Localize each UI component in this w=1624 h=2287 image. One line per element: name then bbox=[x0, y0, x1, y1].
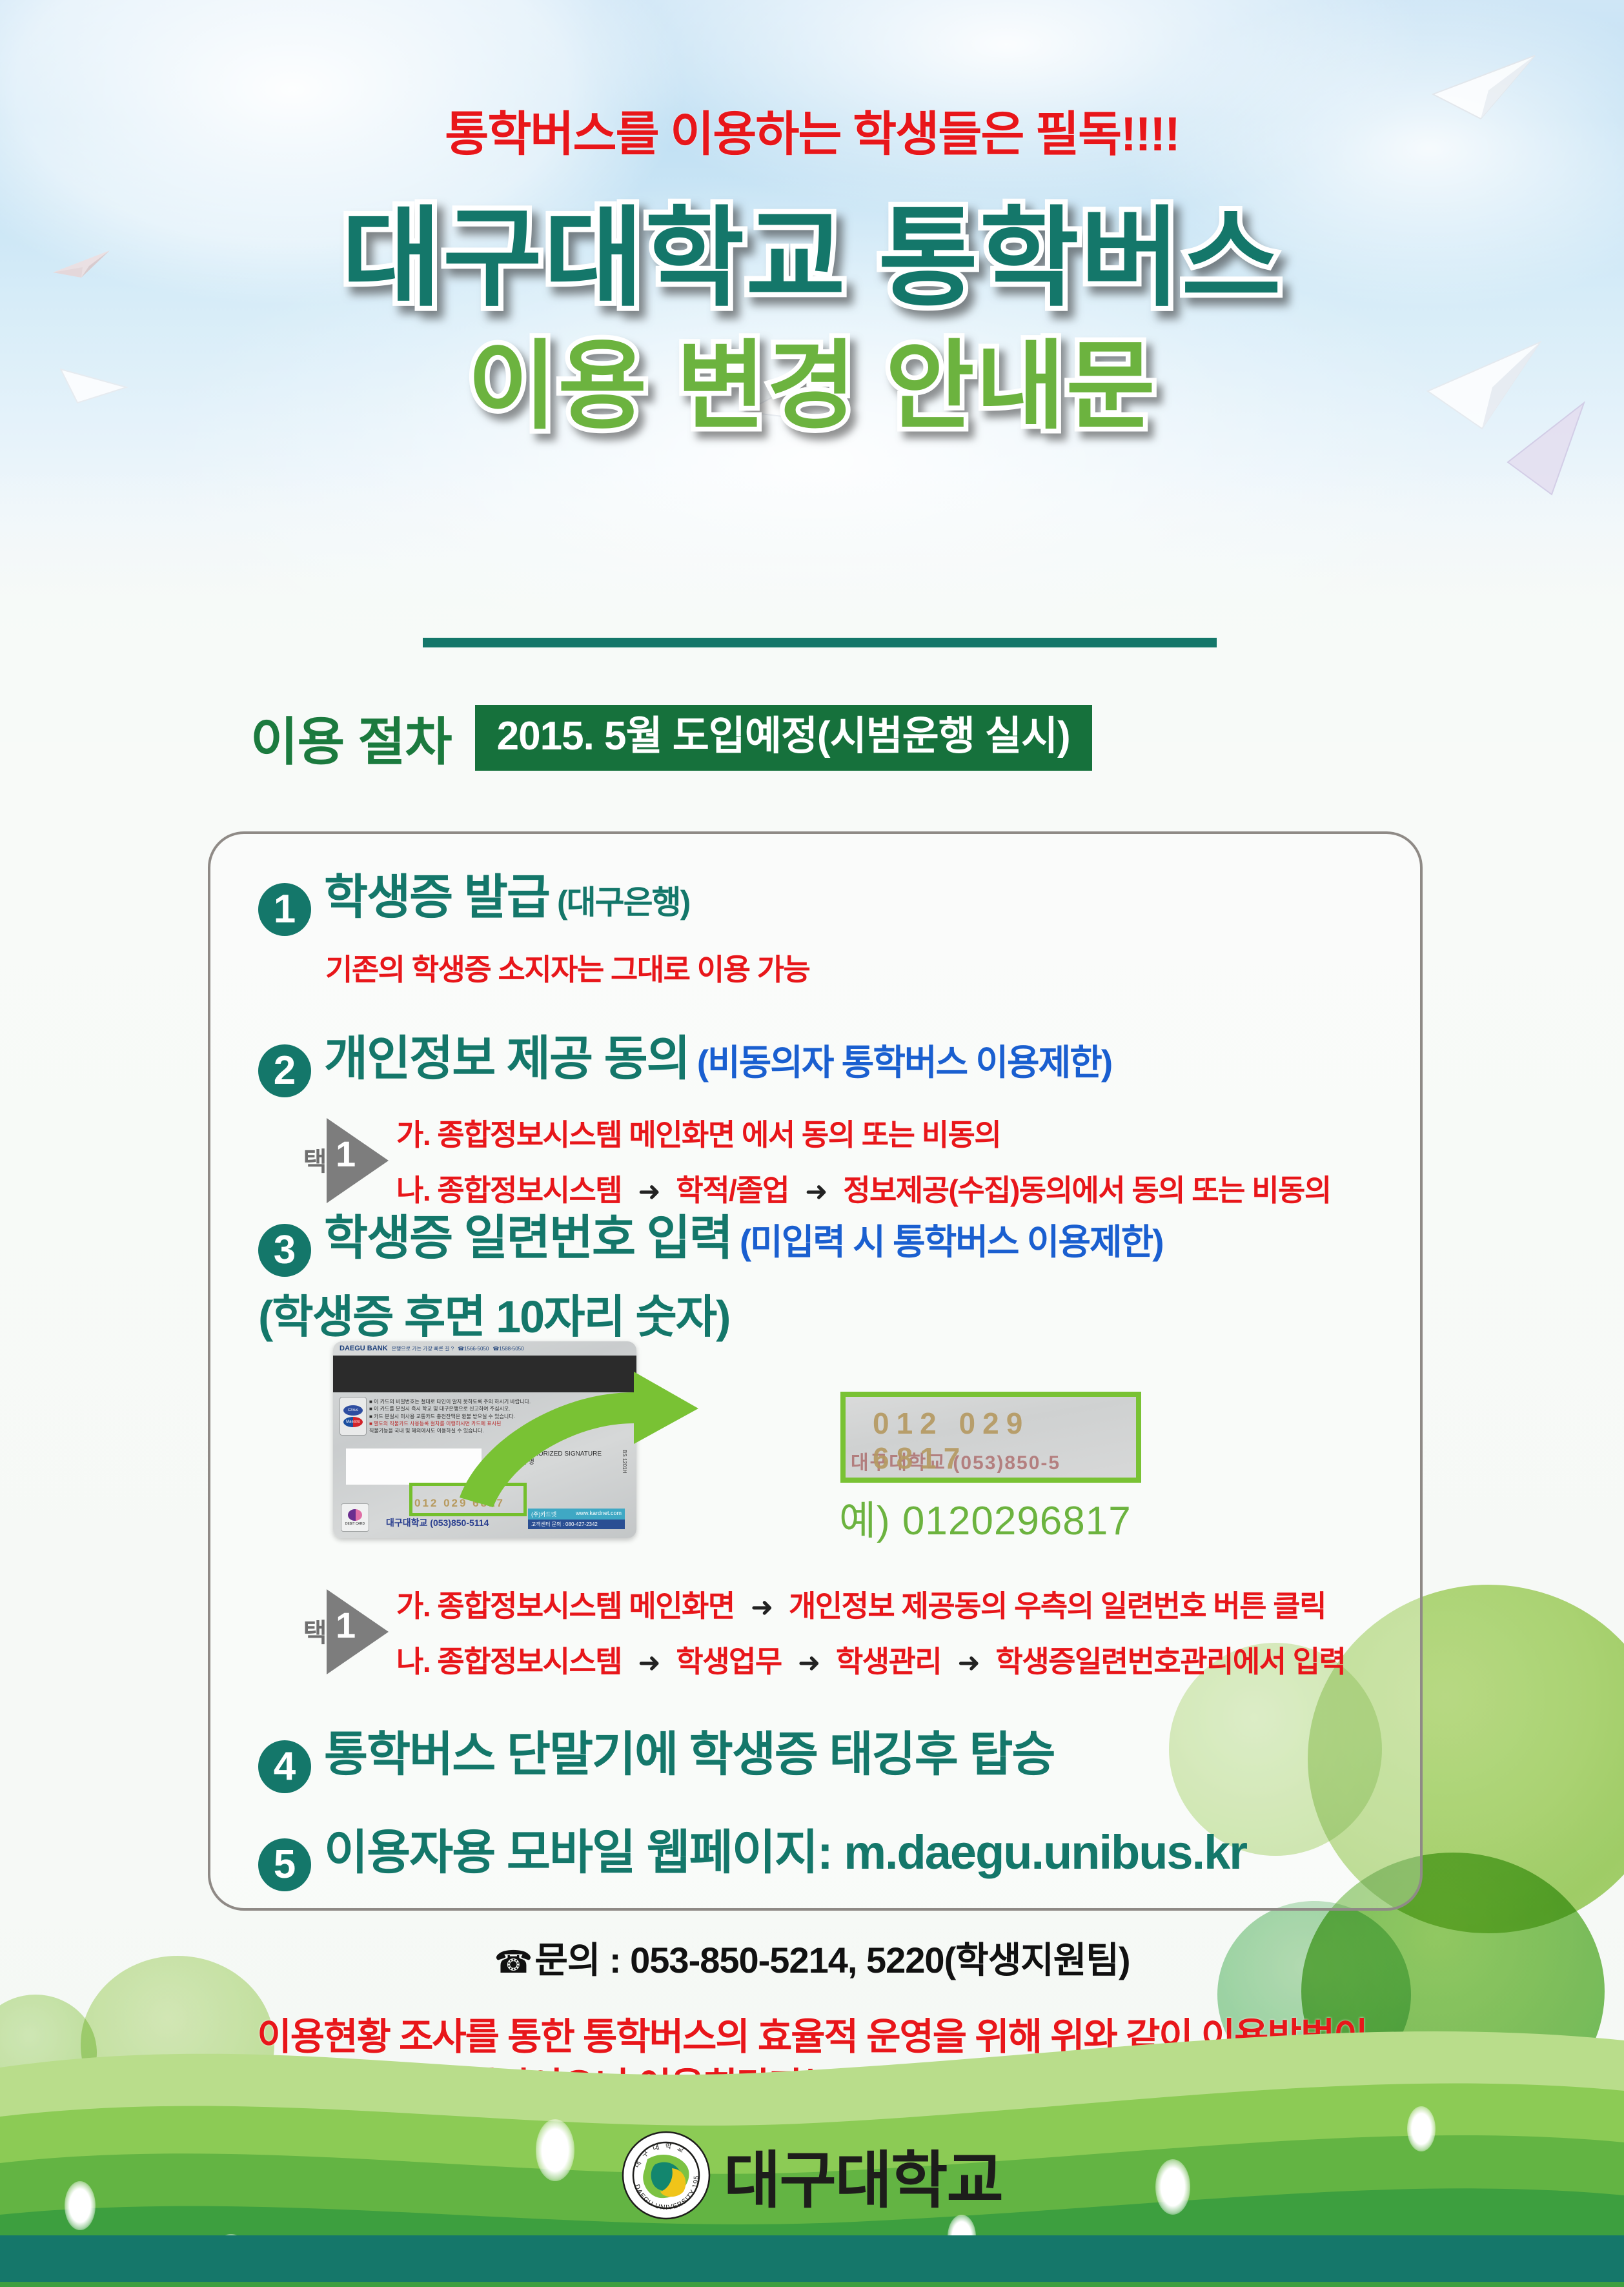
step-3-note: (미입력 시 통학버스 이용제한) bbox=[740, 1222, 1163, 1262]
serial-zoom-callout: 대구대학교 (053)850-5 012 029 6817 bbox=[840, 1392, 1141, 1483]
step-3: 3학생증 일련번호 입력(미입력 시 통학버스 이용제한) (학생증 후면 10… bbox=[258, 1199, 1163, 1346]
choose-one-count: 1 bbox=[336, 1607, 356, 1643]
kardnet-row-top: (주)카드넷 www.kardnet.com bbox=[528, 1509, 625, 1520]
serial-zoom-number: 012 029 6817 bbox=[873, 1406, 1136, 1476]
step-2-heading: 2개인정보 제공 동의(비동의자 통학버스 이용제한) bbox=[258, 1020, 1331, 1097]
cirrus-logo-icon: Cirrus bbox=[343, 1405, 363, 1416]
step-2-number: 2 bbox=[258, 1044, 311, 1097]
card-term-line: ■ 이 카드의 비밀번호는 절대로 타인이 알지 못하도록 주의 하시기 바랍니… bbox=[369, 1398, 625, 1405]
card-university-line: 대구대학교 (053)850-5114 bbox=[386, 1516, 489, 1529]
telephone-icon: ☎ bbox=[494, 1946, 533, 1980]
option-part: 개인정보 제공동의 우측의 일련번호 버튼 클릭 bbox=[789, 1589, 1326, 1623]
contact-text: 문의 : 053-850-5214, 5220(학생지원팀) bbox=[534, 1940, 1130, 1980]
choose-one-badge: 택 1 bbox=[299, 1118, 396, 1203]
option-prefix: 가. bbox=[396, 1118, 430, 1152]
card-term-line: ■ 별도의 직불카드 사용등록 절차를 이행하시면 카드에 표시된 bbox=[369, 1420, 625, 1427]
choose-one-arrow-icon: 1 bbox=[327, 1589, 389, 1674]
university-seal-icon: 대 구 대 학 교 DAEGU UNIVERSITY 1956 bbox=[622, 2131, 711, 2220]
option-part: 학생관리 bbox=[836, 1645, 941, 1678]
arrow-right-icon: ➜ bbox=[638, 1647, 660, 1678]
arrow-right-icon: ➜ bbox=[751, 1592, 773, 1622]
step-1-title: 학생증 발급 bbox=[324, 870, 549, 924]
card-term-line: ■ 카드 분실시 미사용 교통카드 충전잔액은 환불 받으실 수 있습니다. bbox=[369, 1413, 625, 1420]
option-item: 가. 종합정보시스템 메인화면 ➜ 개인정보 제공동의 우측의 일련번호 버튼 … bbox=[396, 1583, 1345, 1625]
step-4-title: 통학버스 단말기에 학생증 태깅후 탑승 bbox=[324, 1727, 1055, 1781]
card-vertical-code: BS 1201H bbox=[622, 1450, 627, 1473]
step-2-title: 개인정보 제공 동의 bbox=[324, 1032, 689, 1085]
step-4-heading: 4통학버스 단말기에 학생증 태깅후 탑승 bbox=[258, 1716, 1055, 1793]
card-network-logos: Cirrus Maestro bbox=[340, 1397, 367, 1436]
step-2-note: (비동의자 통학버스 이용제한) bbox=[697, 1042, 1111, 1083]
card-phone-2: ☎1588-5050 bbox=[492, 1346, 523, 1352]
poster-canvas: 통학버스를 이용하는 학생들은 필독!!!! 대구대학교 통학버스 이용 변경 … bbox=[0, 0, 1624, 2287]
option-part: 종합정보시스템 메인화면 bbox=[437, 1589, 734, 1623]
card-signature-panel bbox=[346, 1448, 482, 1485]
card-bank-name: DAEGU BANK bbox=[340, 1345, 388, 1352]
card-signature-label-ko: 서 명 bbox=[521, 1458, 602, 1467]
step-2-choice-block: 택 1 가. 종합정보시스템 메인화면 에서 동의 또는 비동의 나. 종합정보… bbox=[299, 1112, 1331, 1210]
card-signature-label: AUTHORIZED SIGNATURE 서 명 bbox=[521, 1450, 602, 1467]
kardnet-info: 고객센터 문의 : 080-427-2342 bbox=[528, 1520, 625, 1529]
title-divider bbox=[423, 638, 1217, 647]
card-phone-1: ☎1566-5050 bbox=[458, 1346, 489, 1352]
option-prefix: 나. bbox=[396, 1645, 430, 1678]
option-item: 나. 종합정보시스템 ➜ 학생업무 ➜ 학생관리 ➜ 학생증일련번호관리에서 입… bbox=[396, 1638, 1345, 1681]
poster-title-group: 대구대학교 통학버스 이용 변경 안내문 bbox=[0, 200, 1624, 438]
debit-icon bbox=[348, 1509, 362, 1521]
step-1-note: (대구은행) bbox=[557, 884, 689, 920]
footer-bar bbox=[0, 2235, 1624, 2282]
poster-title-line2: 이용 변경 안내문 bbox=[0, 334, 1624, 438]
contact-line: ☎문의 : 053-850-5214, 5220(학생지원팀) bbox=[0, 1931, 1624, 1984]
card-bank-tagline: 은행으로 가는 가장 빠른 길 ? bbox=[392, 1345, 454, 1352]
step-1-subnote: 기존의 학생증 소지자는 그대로 이용 가능 bbox=[325, 946, 809, 989]
debit-card-badge: DEBIT CARD bbox=[341, 1503, 369, 1532]
step-1: 1학생증 발급(대구은행) 기존의 학생증 소지자는 그대로 이용 가능 bbox=[258, 859, 809, 989]
kardnet-block: (주)카드넷 www.kardnet.com 고객센터 문의 : 080-427… bbox=[528, 1509, 625, 1529]
serial-example-text: 예) 0120296817 bbox=[839, 1488, 1132, 1546]
section-label: 이용 절차 bbox=[250, 700, 452, 775]
card-term-line: 직불기능을 국내 및 해외에서도 이용하실 수 있습니다. bbox=[369, 1427, 625, 1434]
student-card-photo: DAEGU BANK 은행으로 가는 가장 빠른 길 ? ☎1566-5050 … bbox=[333, 1341, 636, 1538]
choose-one-label: 택 bbox=[299, 1619, 325, 1645]
choose-one-label: 택 bbox=[299, 1148, 325, 1174]
choose-one-badge: 택 1 bbox=[299, 1589, 396, 1674]
step-5: 5이용자용 모바일 웹페이지: m.daegu.unibus.kr bbox=[258, 1814, 1246, 1891]
step-1-number: 1 bbox=[258, 883, 311, 936]
choose-one-count: 1 bbox=[336, 1136, 356, 1172]
section-header: 이용 절차 2015. 5월 도입예정(시범운행 실시) bbox=[250, 700, 1092, 775]
step-3-heading: 3학생증 일련번호 입력(미입력 시 통학버스 이용제한) bbox=[258, 1199, 1163, 1277]
poster-title-line1: 대구대학교 통학버스 bbox=[0, 200, 1624, 317]
step-5-title: 이용자용 모바일 웹페이지: m.daegu.unibus.kr bbox=[324, 1825, 1246, 1879]
card-magnetic-stripe bbox=[333, 1356, 636, 1392]
section-date-badge: 2015. 5월 도입예정(시범운행 실시) bbox=[475, 705, 1092, 771]
option-prefix: 가. bbox=[396, 1589, 430, 1623]
brand-lockup: 대 구 대 학 교 DAEGU UNIVERSITY 1956 대구대학교 bbox=[0, 2130, 1624, 2220]
kardnet-url: www.kardnet.com bbox=[576, 1510, 622, 1518]
arrow-right-icon: ➜ bbox=[798, 1647, 820, 1678]
step-3-title: 학생증 일련번호 입력 bbox=[324, 1211, 732, 1265]
option-part: 학생증일련번호관리에서 입력 bbox=[996, 1645, 1346, 1678]
card-serial-highlight-box bbox=[409, 1483, 527, 1516]
maestro-logo-icon: Maestro bbox=[343, 1417, 363, 1427]
card-signature-label-en: AUTHORIZED SIGNATURE bbox=[521, 1450, 602, 1458]
step-2: 2개인정보 제공 동의(비동의자 통학버스 이용제한) 택 1 가. 종합정보시… bbox=[258, 1020, 1331, 1210]
step-4-number: 4 bbox=[258, 1740, 311, 1793]
kicker-text: 통학버스를 이용하는 학생들은 필독!!!! bbox=[0, 96, 1624, 165]
choose-one-arrow-icon: 1 bbox=[327, 1118, 389, 1203]
kardnet-name: (주)카드넷 bbox=[531, 1510, 556, 1518]
step-1-heading: 1학생증 발급(대구은행) bbox=[258, 859, 809, 936]
option-part: 학생업무 bbox=[676, 1645, 781, 1678]
card-term-line: ■ 이 카드를 분실시 즉시 학교 및 대구은행으로 신고하여 주십시오. bbox=[369, 1405, 625, 1412]
footer-bar-edge bbox=[0, 2282, 1624, 2287]
option-part: 종합정보시스템 bbox=[437, 1645, 622, 1678]
card-bank-header: DAEGU BANK 은행으로 가는 가장 빠른 길 ? ☎1566-5050 … bbox=[340, 1345, 631, 1352]
debit-label: DEBIT CARD bbox=[345, 1522, 365, 1526]
card-terms-text: ■ 이 카드의 비밀번호는 절대로 타인이 알지 못하도록 주의 하시기 바랍니… bbox=[369, 1398, 625, 1435]
step-5-number: 5 bbox=[258, 1838, 311, 1891]
brand-wordmark: 대구대학교 bbox=[724, 2130, 1002, 2220]
option-item: 가. 종합정보시스템 메인화면 에서 동의 또는 비동의 bbox=[396, 1112, 1331, 1154]
step-3-number: 3 bbox=[258, 1224, 311, 1277]
step-3-subtitle: (학생증 후면 10자리 숫자) bbox=[258, 1281, 1163, 1346]
step-5-heading: 5이용자용 모바일 웹페이지: m.daegu.unibus.kr bbox=[258, 1814, 1246, 1891]
step-3-options: 가. 종합정보시스템 메인화면 ➜ 개인정보 제공동의 우측의 일련번호 버튼 … bbox=[396, 1583, 1345, 1681]
arrow-right-icon: ➜ bbox=[958, 1647, 980, 1678]
option-part: 종합정보시스템 메인화면 에서 동의 또는 비동의 bbox=[437, 1118, 1000, 1152]
step-4: 4통학버스 단말기에 학생증 태깅후 탑승 bbox=[258, 1716, 1055, 1793]
step-3-choice-block: 택 1 가. 종합정보시스템 메인화면 ➜ 개인정보 제공동의 우측의 일련번호… bbox=[299, 1583, 1345, 1681]
step-2-options: 가. 종합정보시스템 메인화면 에서 동의 또는 비동의 나. 종합정보시스템 … bbox=[396, 1112, 1331, 1210]
